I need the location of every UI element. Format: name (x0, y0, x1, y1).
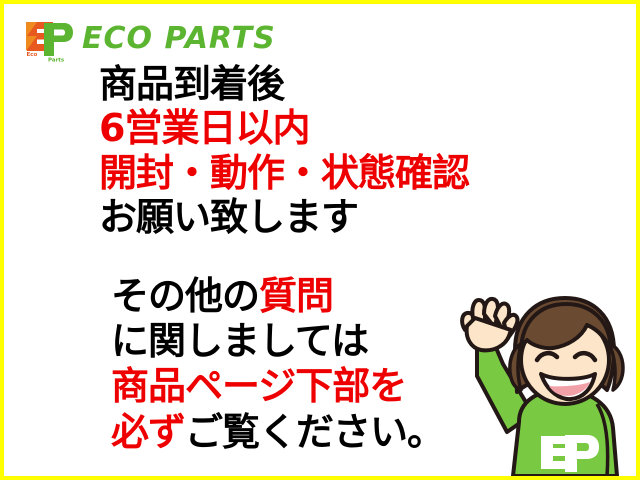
waving-smiling-woman-illustration (415, 294, 630, 476)
notice-line-6-part-1: に関しましては (111, 319, 368, 363)
notice-line-3: 開封・動作・状態確認 (99, 151, 569, 195)
brand-wordmark: ECO PARTS (82, 24, 276, 54)
notice-line-5-part-2: 質問 (259, 274, 333, 318)
notice-line-5-part-1: その他の (111, 274, 259, 318)
mark-parts-text: Parts (48, 58, 65, 63)
notice-line-7-part-1: 商品ページ下部を (111, 364, 406, 408)
notice-line-8-part-2: ご覧ください。 (185, 410, 444, 454)
notice-line-1: 商品到着後 (99, 62, 569, 106)
notice-line-8-part-1: 必ず (111, 410, 185, 454)
mark-eco-text: Eco (27, 52, 38, 58)
ecoparts-ep-monogram-icon: Eco Parts (22, 16, 74, 62)
promo-banner: Eco Parts ECO PARTS 商品到着後 6営業日以内 開封・動作・状… (0, 0, 640, 480)
notice-upper-block: 商品到着後 6営業日以内 開封・動作・状態確認 お願い致します (99, 62, 569, 240)
notice-line-4: お願い致します (99, 195, 569, 239)
brand-header: Eco Parts ECO PARTS (22, 16, 276, 62)
notice-line-2: 6営業日以内 (99, 106, 569, 150)
